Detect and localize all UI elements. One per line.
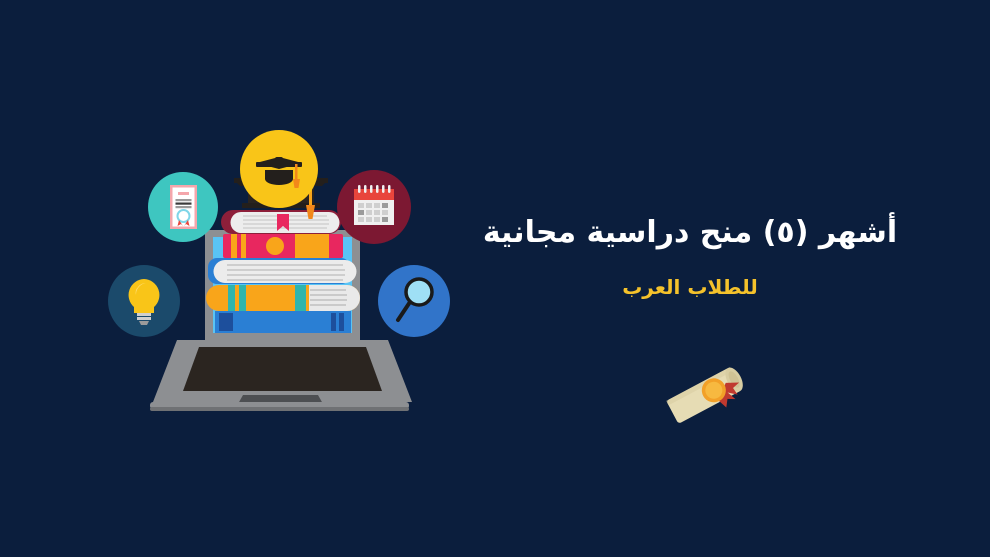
text-block: أشهر (٥) منح دراسية مجانية للطلاب العرب	[470, 214, 910, 300]
online-education-illustration	[95, 115, 465, 440]
magnifier-icon	[378, 265, 450, 337]
laptop-keyboard	[183, 347, 382, 391]
lightbulb-badge	[108, 265, 180, 337]
certificate-badge	[148, 172, 218, 242]
poster-canvas: أشهر (٥) منح دراسية مجانية للطلاب العرب	[0, 0, 990, 557]
graduation-cap-badge	[240, 130, 318, 208]
magnifier-badge	[378, 265, 450, 337]
diploma-scroll-icon	[650, 350, 760, 440]
lightbulb-icon	[108, 265, 180, 337]
calendar-badge	[337, 170, 411, 244]
diploma-scroll	[650, 350, 760, 440]
calendar-icon	[337, 170, 411, 244]
page-title: أشهر (٥) منح دراسية مجانية	[470, 214, 910, 252]
page-subtitle: للطلاب العرب	[470, 274, 910, 300]
certificate-icon	[148, 172, 218, 242]
graduation-cap-icon	[240, 130, 318, 208]
